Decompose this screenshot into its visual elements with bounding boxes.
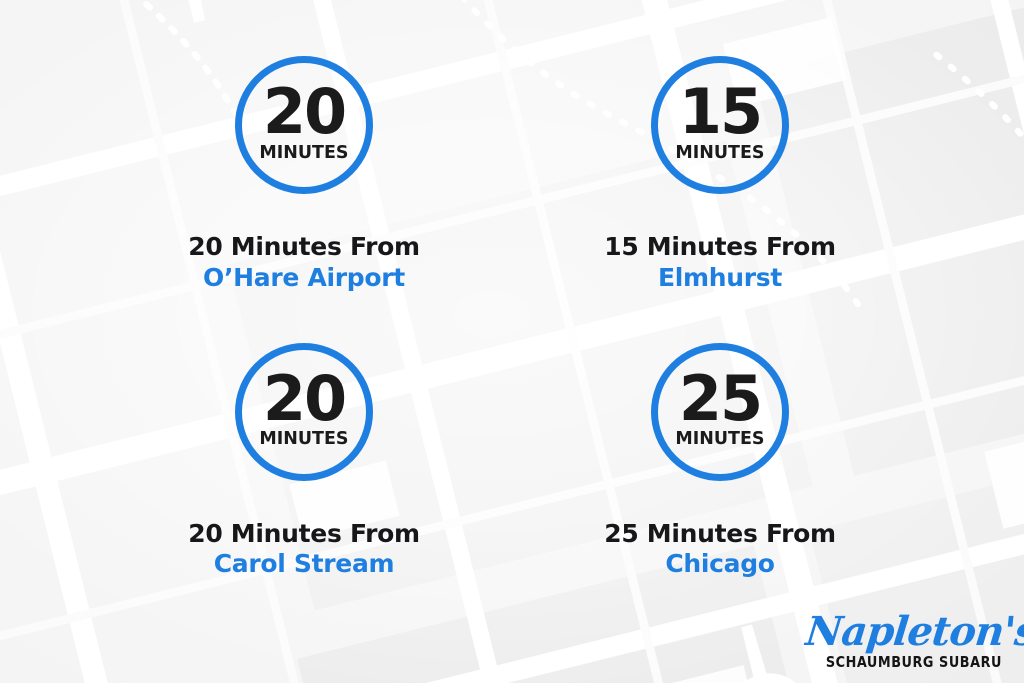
caption-location: Carol Stream: [188, 549, 420, 580]
badge-number: 20: [263, 85, 345, 140]
drive-time-card-carol-stream: 20 MINUTES 20 Minutes From Carol Stream: [96, 327, 512, 598]
caption-location: Chicago: [604, 549, 836, 580]
drive-times-graphic: 20 MINUTES 20 Minutes From O’Hare Airpor…: [0, 0, 1024, 683]
badge-number: 25: [679, 372, 761, 427]
card-caption: 20 Minutes From Carol Stream: [188, 519, 420, 580]
drive-time-card-chicago: 25 MINUTES 25 Minutes From Chicago: [512, 327, 928, 598]
badge-unit-label: MINUTES: [675, 428, 764, 449]
caption-primary: 25 Minutes From: [604, 519, 836, 550]
badge-number: 20: [263, 372, 345, 427]
caption-primary: 20 Minutes From: [188, 519, 420, 550]
card-caption: 15 Minutes From Elmhurst: [604, 232, 836, 293]
logo-subtitle: SCHAUMBURG SUBARU: [822, 653, 1002, 671]
caption-primary: 20 Minutes From: [188, 232, 420, 263]
dealership-logo: Napleton's SCHAUMBURG SUBARU: [806, 612, 1002, 671]
minutes-badge-elmhurst: 15 MINUTES: [651, 56, 789, 194]
drive-time-grid: 20 MINUTES 20 Minutes From O’Hare Airpor…: [0, 0, 1024, 683]
drive-time-card-ohare: 20 MINUTES 20 Minutes From O’Hare Airpor…: [96, 56, 512, 327]
badge-unit-label: MINUTES: [259, 142, 348, 163]
logo-wordmark: Napleton's: [804, 612, 1004, 652]
minutes-badge-carol-stream: 20 MINUTES: [235, 343, 373, 481]
caption-location: Elmhurst: [604, 263, 836, 294]
badge-number: 15: [679, 85, 761, 140]
minutes-badge-chicago: 25 MINUTES: [651, 343, 789, 481]
card-caption: 20 Minutes From O’Hare Airport: [188, 232, 420, 293]
minutes-badge-ohare: 20 MINUTES: [235, 56, 373, 194]
drive-time-card-elmhurst: 15 MINUTES 15 Minutes From Elmhurst: [512, 56, 928, 327]
badge-unit-label: MINUTES: [675, 142, 764, 163]
caption-primary: 15 Minutes From: [604, 232, 836, 263]
card-caption: 25 Minutes From Chicago: [604, 519, 836, 580]
caption-location: O’Hare Airport: [188, 263, 420, 294]
badge-unit-label: MINUTES: [259, 428, 348, 449]
